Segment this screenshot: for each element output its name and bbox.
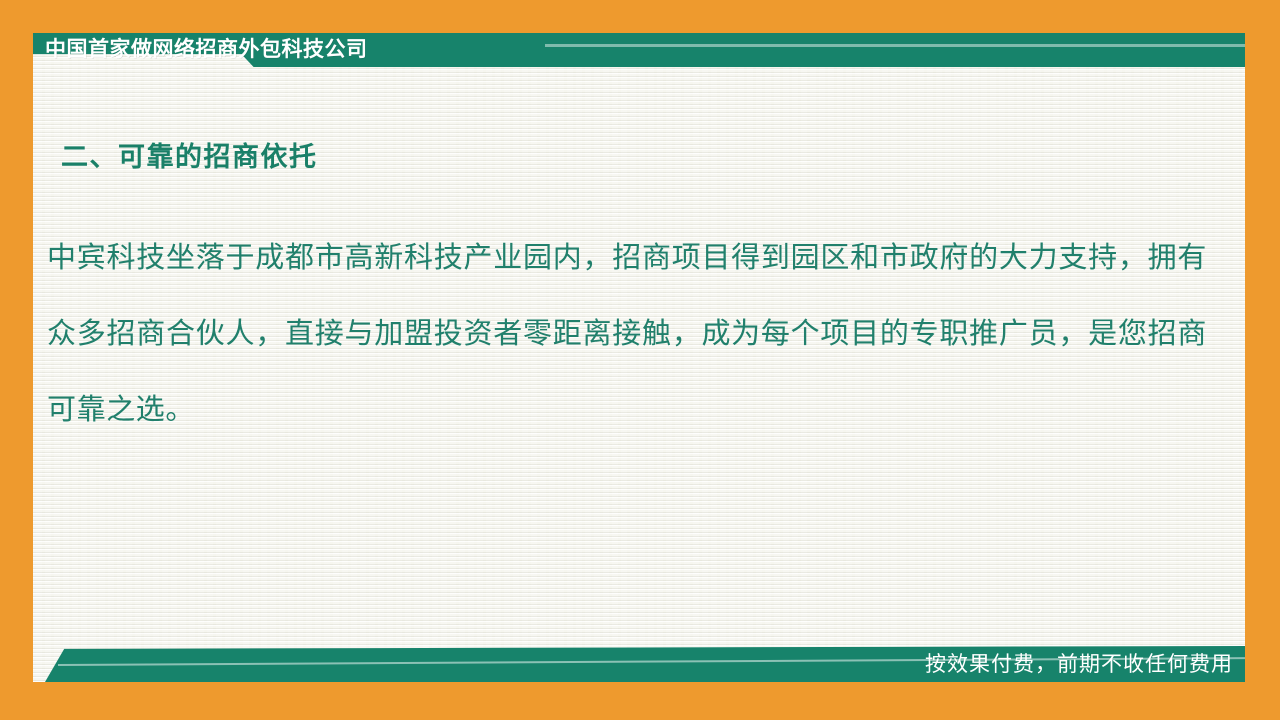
section-title: 二、可靠的招商依托	[61, 135, 318, 174]
header-accent-line	[545, 44, 1245, 47]
header-title: 中国首家做网络招商外包科技公司	[45, 33, 368, 67]
slide-body: 二、可靠的招商依托 中宾科技坐落于成都市高新科技产业园内，招商项目得到园区和市政…	[33, 67, 1245, 632]
footer-tagline: 按效果付费，前期不收任何费用	[925, 647, 1233, 682]
body-paragraph: 中宾科技坐落于成都市高新科技产业园内，招商项目得到园区和市政府的大力支持，拥有众…	[47, 219, 1207, 447]
slide-root: 中国首家做网络招商外包科技公司 二、可靠的招商依托 中宾科技坐落于成都市高新科技…	[0, 0, 1280, 720]
